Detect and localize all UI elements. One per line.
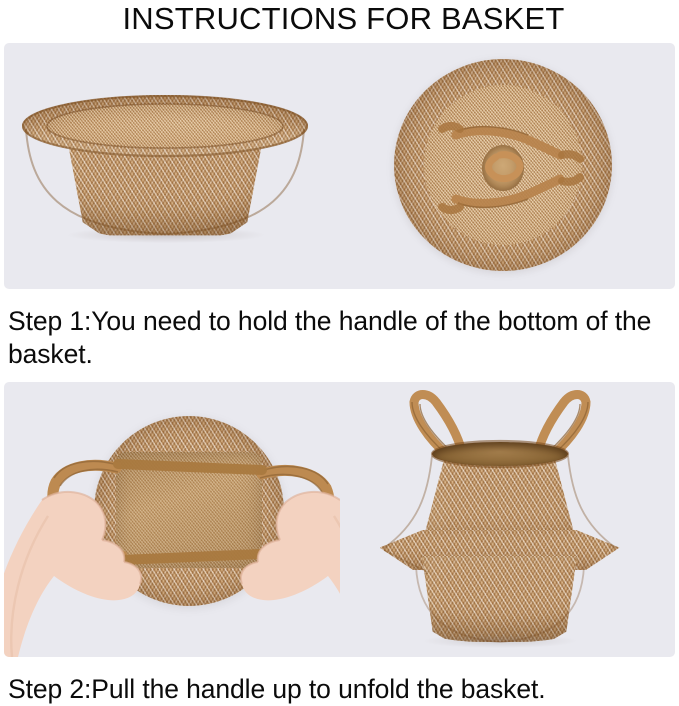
right-hand xyxy=(241,492,340,657)
panel-step-1 xyxy=(4,43,675,289)
page-title: INSTRUCTIONS FOR BASKET xyxy=(0,1,679,37)
interior-weave-texture xyxy=(46,104,284,148)
drop-shadow xyxy=(424,634,576,648)
basket-interior xyxy=(46,104,284,148)
hands-and-handles-overlay xyxy=(4,382,340,657)
step-1-text: Step 1:You need to hold the handle of th… xyxy=(0,305,679,371)
basket-illustration xyxy=(394,59,612,271)
folded-basket-top-view xyxy=(340,43,676,289)
folded-basket-side-view xyxy=(4,43,340,289)
center-knot-hole xyxy=(482,145,524,191)
left-hand xyxy=(4,492,141,657)
basket-lower-body xyxy=(412,556,588,642)
step-2-text: Step 2:Pull the handle up to unfold the … xyxy=(0,673,679,706)
basket-illustration xyxy=(22,95,308,243)
basket-illustration xyxy=(370,390,628,652)
unfolded-belly-basket xyxy=(340,382,676,657)
hands-pulling-handles xyxy=(4,382,340,657)
panel-step-2 xyxy=(4,382,675,657)
basket-opening xyxy=(432,442,568,466)
basket-illustration xyxy=(4,382,340,657)
